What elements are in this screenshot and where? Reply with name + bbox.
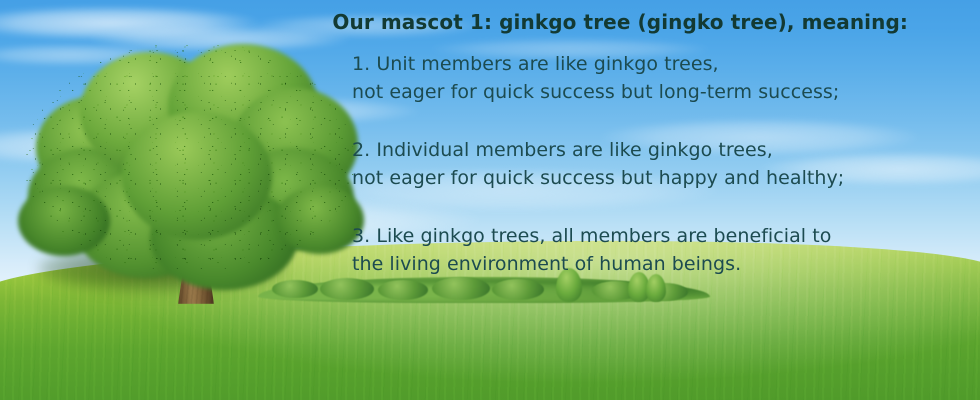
mascot-point-1: 1. Unit members are like ginkgo trees, n… [352,50,839,106]
text-content: Our mascot 1: ginkgo tree (gingko tree),… [0,0,980,400]
mascot-point-3: 3. Like ginkgo trees, all members are be… [352,222,831,278]
page-title: Our mascot 1: ginkgo tree (gingko tree),… [0,10,908,34]
mascot-point-2: 2. Individual members are like ginkgo tr… [352,136,844,192]
mascot-banner: Our mascot 1: ginkgo tree (gingko tree),… [0,0,980,400]
